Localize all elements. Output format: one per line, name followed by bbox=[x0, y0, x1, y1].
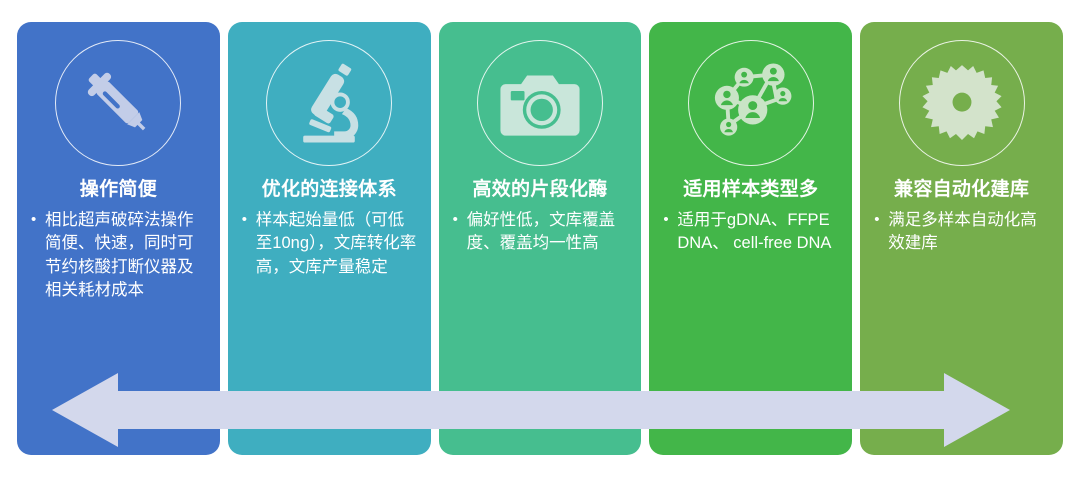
icon-circle-3 bbox=[477, 40, 603, 166]
syringe-icon bbox=[75, 60, 161, 146]
bullet-item: 适用于gDNA、FFPE DNA、 cell-free DNA bbox=[663, 209, 842, 256]
icon-circle-5 bbox=[899, 40, 1025, 166]
bullet-list-4: 适用于gDNA、FFPE DNA、 cell-free DNA bbox=[649, 209, 852, 256]
bullet-list-5: 满足多样本自动化高效建库 bbox=[860, 209, 1063, 256]
feature-panel-5[interactable]: 兼容自动化建库 满足多样本自动化高效建库 bbox=[860, 22, 1063, 455]
people-network-icon bbox=[708, 60, 794, 146]
panel-row: 操作简便 相比超声破碎法操作简便、快速，同时可节约核酸打断仪器及相关耗材成本 bbox=[0, 0, 1080, 479]
panel-title-1: 操作简便 bbox=[76, 179, 161, 202]
icon-circle-2 bbox=[266, 40, 392, 166]
bullet-item: 满足多样本自动化高效建库 bbox=[874, 209, 1053, 256]
panel-title-2: 优化的连接体系 bbox=[258, 179, 401, 202]
microscope-icon bbox=[286, 60, 372, 146]
panel-title-3: 高效的片段化酶 bbox=[468, 179, 611, 202]
feature-panel-2[interactable]: 优化的连接体系 样本起始量低（可低至10ng），文库转化率高，文库产量稳定 bbox=[228, 22, 431, 455]
bullet-list-1: 相比超声破碎法操作简便、快速，同时可节约核酸打断仪器及相关耗材成本 bbox=[17, 209, 220, 303]
camera-icon bbox=[497, 60, 583, 146]
icon-circle-4 bbox=[688, 40, 814, 166]
feature-infographic: 操作简便 相比超声破碎法操作简便、快速，同时可节约核酸打断仪器及相关耗材成本 bbox=[0, 0, 1080, 479]
bullet-item: 样本起始量低（可低至10ng），文库转化率高，文库产量稳定 bbox=[242, 209, 421, 279]
feature-panel-3[interactable]: 高效的片段化酶 偏好性低，文库覆盖度、覆盖均一性高 bbox=[439, 22, 642, 455]
feature-panel-1[interactable]: 操作简便 相比超声破碎法操作简便、快速，同时可节约核酸打断仪器及相关耗材成本 bbox=[17, 22, 220, 455]
bullet-list-2: 样本起始量低（可低至10ng），文库转化率高，文库产量稳定 bbox=[228, 209, 431, 279]
bullet-list-3: 偏好性低，文库覆盖度、覆盖均一性高 bbox=[439, 209, 642, 256]
bullet-item: 相比超声破碎法操作简便、快速，同时可节约核酸打断仪器及相关耗材成本 bbox=[31, 209, 210, 303]
icon-circle-1 bbox=[55, 40, 181, 166]
panel-title-5: 兼容自动化建库 bbox=[890, 179, 1033, 202]
sawblade-gear-icon bbox=[919, 60, 1005, 146]
feature-panel-4[interactable]: 适用样本类型多 适用于gDNA、FFPE DNA、 cell-free DNA bbox=[649, 22, 852, 455]
panel-title-4: 适用样本类型多 bbox=[679, 179, 822, 202]
bullet-item: 偏好性低，文库覆盖度、覆盖均一性高 bbox=[453, 209, 632, 256]
